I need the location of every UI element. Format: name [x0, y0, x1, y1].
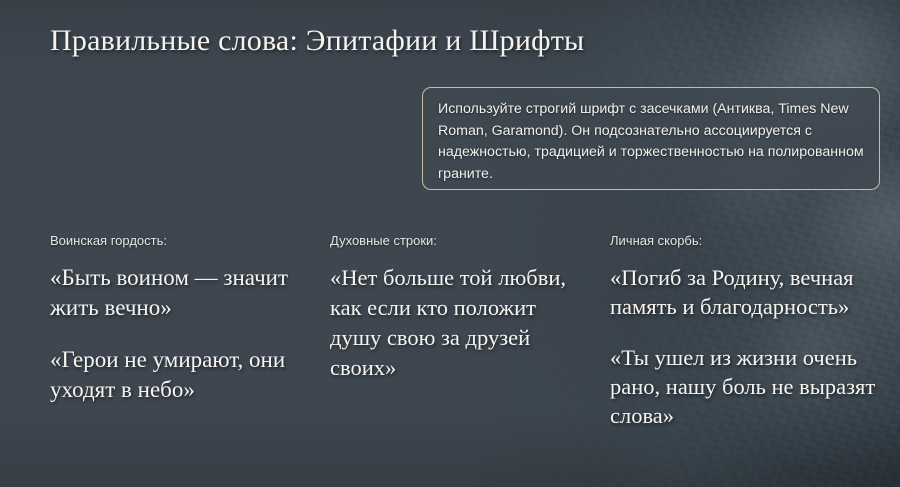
epitaph-quote: «Нет больше той любви, как если кто поло… — [330, 263, 592, 383]
epitaph-column-personal-grief: Личная скорбь: «Погиб за Родину, вечная … — [610, 232, 890, 430]
tip-callout-text: Используйте строгий шрифт с засечками (А… — [438, 99, 865, 185]
tip-callout-box: Используйте строгий шрифт с засечками (А… — [422, 87, 880, 190]
column-label-personal-grief: Личная скорбь: — [610, 232, 890, 249]
epitaph-quote: «Погиб за Родину, вечная память и благод… — [610, 263, 890, 321]
column-label-military-pride: Воинская гордость: — [50, 232, 316, 249]
epitaph-column-military-pride: Воинская гордость: «Быть воином — значит… — [50, 232, 316, 405]
epitaph-quote: «Ты ушел из жизни очень рано, нашу боль … — [610, 343, 890, 430]
slide-title: Правильные слова: Эпитафии и Шрифты — [50, 22, 584, 60]
slide-content: Правильные слова: Эпитафии и Шрифты Испо… — [0, 0, 900, 487]
column-label-spiritual-lines: Духовные строки: — [330, 232, 592, 249]
epitaph-column-spiritual-lines: Духовные строки: «Нет больше той любви, … — [330, 232, 592, 383]
epitaph-quote: «Быть воином — значит жить вечно» — [50, 263, 316, 323]
presentation-slide: Правильные слова: Эпитафии и Шрифты Испо… — [0, 0, 900, 487]
epitaph-quote: «Герои не умирают, они уходят в небо» — [50, 345, 316, 405]
